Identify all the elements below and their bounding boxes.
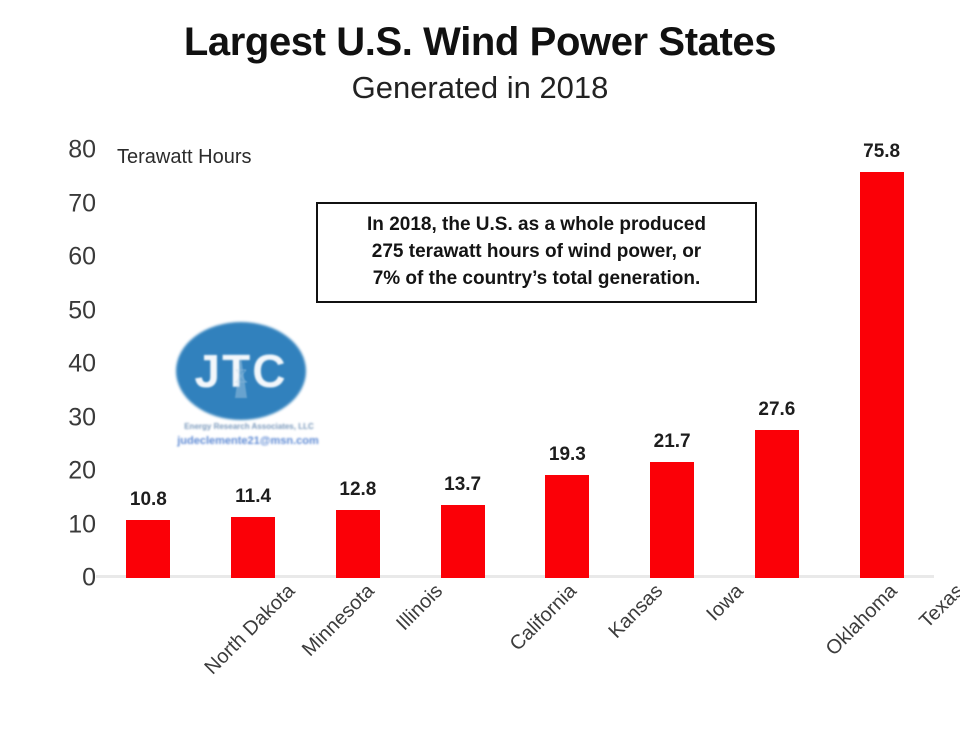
bar-value-label: 10.8	[130, 489, 167, 511]
y-axis-tick-50: 50	[44, 298, 96, 323]
callout-line-2: 275 terawatt hours of wind power, or	[372, 239, 701, 266]
chart-subtitle: Generated in 2018	[0, 70, 960, 106]
bar-value-label: 21.7	[654, 431, 691, 453]
x-axis-label-oklahoma: Oklahoma	[822, 580, 903, 661]
bar-north-dakota[interactable]	[126, 520, 170, 578]
bar-illinois[interactable]	[336, 510, 380, 578]
bar-value-label: 12.8	[339, 479, 376, 501]
y-axis-tick-40: 40	[44, 352, 96, 377]
wind-power-bar-chart: Largest U.S. Wind Power States Generated…	[0, 0, 960, 756]
y-axis-tick-10: 10	[44, 512, 96, 537]
bar-oklahoma[interactable]	[755, 430, 799, 578]
y-axis-tick-70: 70	[44, 191, 96, 216]
x-axis-label-california: California	[505, 580, 581, 656]
x-axis-label-texas: Texas	[915, 580, 960, 633]
callout-line-3: 7% of the country’s total generation.	[373, 266, 701, 293]
bar-value-label: 13.7	[444, 474, 481, 496]
bar-value-label: 19.3	[549, 444, 586, 466]
y-axis-tick-60: 60	[44, 245, 96, 270]
x-axis-label-north-dakota: North Dakota	[201, 580, 301, 680]
bar-texas[interactable]	[860, 172, 904, 578]
bar-kansas[interactable]	[545, 475, 589, 578]
bar-value-label: 11.4	[235, 486, 271, 508]
chart-title: Largest U.S. Wind Power States	[0, 20, 960, 65]
callout-box: In 2018, the U.S. as a whole produced 27…	[316, 202, 757, 303]
bar-california[interactable]	[441, 505, 485, 578]
bar-group: 11.4	[201, 150, 306, 578]
x-axis-label-kansas: Kansas	[605, 580, 668, 643]
bar-group: 10.8	[96, 150, 201, 578]
bar-minnesota[interactable]	[231, 517, 275, 578]
y-axis: 01020304050607080	[44, 140, 96, 590]
y-axis-tick-20: 20	[44, 459, 96, 484]
x-axis-label-illinois: Illinois	[392, 580, 448, 636]
bar-iowa[interactable]	[650, 462, 694, 578]
x-axis-label-iowa: Iowa	[702, 580, 748, 626]
bar-value-label: 27.6	[758, 399, 795, 421]
y-axis-tick-30: 30	[44, 405, 96, 430]
x-axis-label-minnesota: Minnesota	[298, 580, 380, 662]
callout-line-1: In 2018, the U.S. as a whole produced	[367, 212, 706, 239]
y-axis-tick-80: 80	[44, 138, 96, 163]
bar-group: 75.8	[829, 150, 934, 578]
x-axis-labels: North DakotaMinnesotaIllinoisCaliforniaK…	[96, 580, 934, 700]
bar-value-label: 75.8	[863, 141, 900, 163]
y-axis-tick-0: 0	[44, 566, 96, 591]
